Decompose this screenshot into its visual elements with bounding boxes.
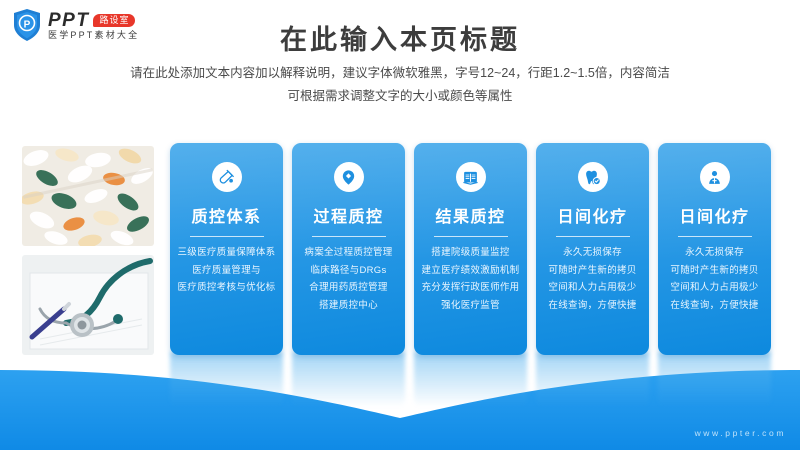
card-line: 永久无损保存 xyxy=(685,248,744,258)
card-body-lines: 搭建院级质量监控 建立医疗绩效激励机制 充分发挥行政医师作用 强化医疗监管 xyxy=(414,248,527,310)
feature-card[interactable]: 质控体系 三级医疗质量保障体系 医疗质量管理与 医疗质控考核与优化标 xyxy=(170,143,283,355)
card-reflection xyxy=(414,352,527,407)
card-line: 合理用药质控管理 xyxy=(309,283,387,293)
location-pin-icon xyxy=(334,162,364,192)
page-title: 在此输入本页标题 xyxy=(0,18,800,57)
card-reflection xyxy=(292,352,405,407)
test-tube-icon xyxy=(212,162,242,192)
pills-capsules-photo xyxy=(22,146,154,246)
card-line: 搭建院级质量监控 xyxy=(431,248,509,258)
card-line: 临床路径与DRGs xyxy=(310,266,386,276)
card-line: 医疗质量管理与 xyxy=(192,266,261,276)
feature-card-row: 质控体系 三级医疗质量保障体系 医疗质量管理与 医疗质控考核与优化标 过程质控 … xyxy=(170,143,771,355)
card-title: 结果质控 xyxy=(435,203,505,227)
card-line: 强化医疗监管 xyxy=(441,301,500,311)
card-line: 在线查询，方便快捷 xyxy=(670,301,758,311)
card-line: 空间和人力占用极少 xyxy=(670,283,758,293)
photo-column xyxy=(22,146,154,355)
card-title: 日间化疗 xyxy=(679,203,749,227)
stethoscope-photo xyxy=(22,255,154,355)
card-line: 可随时产生新的拷贝 xyxy=(548,266,636,276)
card-divider xyxy=(556,236,630,237)
card-divider xyxy=(678,236,752,237)
feature-card[interactable]: 日间化疗 永久无损保存 可随时产生新的拷贝 空间和人力占用极少 在线查询，方便快… xyxy=(536,143,649,355)
card-reflection xyxy=(536,352,649,407)
footer-url: www.ppter.com xyxy=(695,428,786,438)
card-line: 三级医疗质量保障体系 xyxy=(177,248,275,258)
feature-card[interactable]: 过程质控 病案全过程质控管理 临床路径与DRGs 合理用药质控管理 搭建质控中心 xyxy=(292,143,405,355)
feature-card[interactable]: 日间化疗 永久无损保存 可随时产生新的拷贝 空间和人力占用极少 在线查询，方便快… xyxy=(658,143,771,355)
page-subtitle: 请在此处添加文本内容加以解释说明，建议字体微软雅黑，字号12~24，行距1.2~… xyxy=(0,62,800,108)
tooth-check-icon xyxy=(578,162,608,192)
card-body-lines: 三级医疗质量保障体系 医疗质量管理与 医疗质控考核与优化标 xyxy=(170,248,283,293)
open-book-icon xyxy=(456,162,486,192)
card-body-lines: 病案全过程质控管理 临床路径与DRGs 合理用药质控管理 搭建质控中心 xyxy=(292,248,405,310)
card-line: 医疗质控考核与优化标 xyxy=(177,283,275,293)
bottom-wave-decoration xyxy=(0,340,800,450)
card-body-lines: 永久无损保存 可随时产生新的拷贝 空间和人力占用极少 在线查询，方便快捷 xyxy=(658,248,771,310)
card-reflection xyxy=(170,352,283,407)
card-line: 可随时产生新的拷贝 xyxy=(670,266,758,276)
card-line: 建立医疗绩效激励机制 xyxy=(421,266,519,276)
card-title: 日间化疗 xyxy=(557,203,627,227)
card-line: 永久无损保存 xyxy=(563,248,622,258)
card-line: 搭建质控中心 xyxy=(319,301,378,311)
card-title: 过程质控 xyxy=(313,203,383,227)
card-line: 空间和人力占用极少 xyxy=(548,283,636,293)
doctor-person-icon xyxy=(700,162,730,192)
card-line: 病案全过程质控管理 xyxy=(304,248,392,258)
card-line: 充分发挥行政医师作用 xyxy=(421,283,519,293)
feature-card[interactable]: 结果质控 搭建院级质量监控 建立医疗绩效激励机制 充分发挥行政医师作用 强化医疗… xyxy=(414,143,527,355)
card-line: 在线查询，方便快捷 xyxy=(548,301,636,311)
card-divider xyxy=(434,236,508,237)
card-body-lines: 永久无损保存 可随时产生新的拷贝 空间和人力占用极少 在线查询，方便快捷 xyxy=(536,248,649,310)
subtitle-line-1: 请在此处添加文本内容加以解释说明，建议字体微软雅黑，字号12~24，行距1.2~… xyxy=(0,62,800,85)
card-title: 质控体系 xyxy=(191,203,261,227)
subtitle-line-2: 可根据需求调整文字的大小或颜色等属性 xyxy=(0,85,800,108)
card-divider xyxy=(190,236,264,237)
card-reflection xyxy=(658,352,771,407)
card-divider xyxy=(312,236,386,237)
card-reflections xyxy=(0,352,800,407)
